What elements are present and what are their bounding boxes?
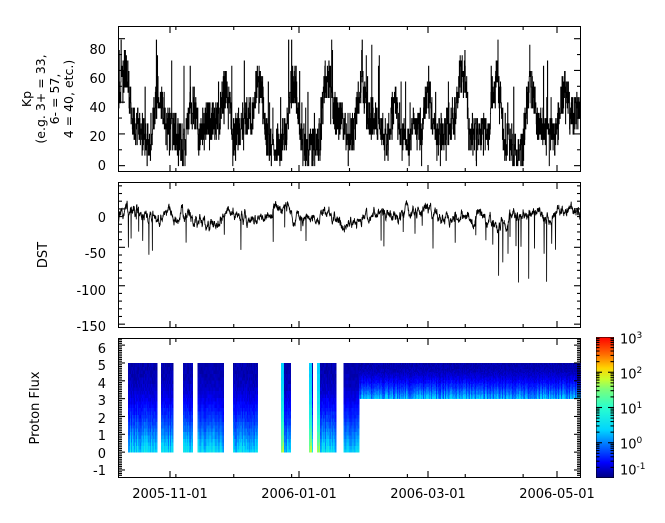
proton-flux-plot-svg: [118, 338, 581, 478]
cbar-base-0: 10: [620, 332, 637, 347]
kp-ytick-20: 20: [74, 130, 106, 145]
cbar-exp-2: 1: [637, 401, 643, 411]
flux-axis-label: Proton Flux: [28, 338, 50, 478]
flux-ytick-1: 1: [76, 429, 106, 444]
flux-ytick-5: 5: [76, 359, 106, 374]
flux-label-text: Proton Flux: [28, 338, 50, 478]
cbar-base-4: 10: [620, 463, 637, 478]
kp-axis-label: Kp (e.g. 3+ = 33, 6- = 57, 4 = 40, etc.): [20, 26, 80, 172]
kp-ytick-60: 60: [74, 72, 106, 87]
kp-ytick-0: 0: [74, 159, 106, 174]
dst-axis-label: DST: [36, 182, 58, 328]
kp-ytick-80: 80: [74, 43, 106, 58]
dst-ytick-m150: -150: [62, 320, 106, 335]
flux-ytick-0: 0: [76, 447, 106, 462]
cbar-base-3: 10: [620, 437, 637, 452]
cbar-exp-4: -1: [637, 462, 646, 472]
cbar-base-2: 10: [620, 402, 637, 417]
kp-plot-svg: [118, 26, 581, 172]
xtick-label-0: 2005-11-01: [110, 487, 230, 502]
figure-root: Kp (e.g. 3+ = 33, 6- = 57, 4 = 40, etc.)…: [0, 0, 665, 523]
flux-ytick-3: 3: [76, 394, 106, 409]
cbar-exp-3: 0: [637, 436, 643, 446]
xtick-label-1: 2006-01-01: [239, 487, 359, 502]
flux-ytick-m1: -1: [76, 464, 106, 479]
kp-label-line-3: 6- = 57,: [48, 26, 62, 172]
colorbar: [596, 337, 614, 478]
flux-ytick-4: 4: [76, 377, 106, 392]
cbar-base-1: 10: [620, 367, 637, 382]
xtick-label-2: 2006-03-01: [368, 487, 488, 502]
colorbar-tick-1e2: 102: [620, 366, 642, 382]
colorbar-tick-1e1: 101: [620, 401, 642, 417]
cbar-exp-0: 3: [637, 331, 643, 341]
flux-ytick-2: 2: [76, 412, 106, 427]
colorbar-tick-1e0: 100: [620, 436, 642, 452]
kp-label-line-1: Kp: [20, 26, 34, 172]
dst-ytick-m50: -50: [62, 247, 106, 262]
flux-ytick-6: 6: [76, 342, 106, 357]
cbar-exp-1: 2: [637, 366, 643, 376]
kp-ytick-40: 40: [74, 101, 106, 116]
dst-label-text: DST: [36, 182, 58, 328]
kp-label-line-2: (e.g. 3+ = 33,: [34, 26, 48, 172]
dst-ytick-0: 0: [62, 211, 106, 226]
colorbar-tick-1em1: 10-1: [620, 462, 646, 478]
xtick-label-3: 2006-05-01: [497, 487, 617, 502]
dst-plot-svg: [118, 182, 581, 328]
dst-ytick-m100: -100: [62, 284, 106, 299]
colorbar-tick-1e3: 103: [620, 331, 642, 347]
